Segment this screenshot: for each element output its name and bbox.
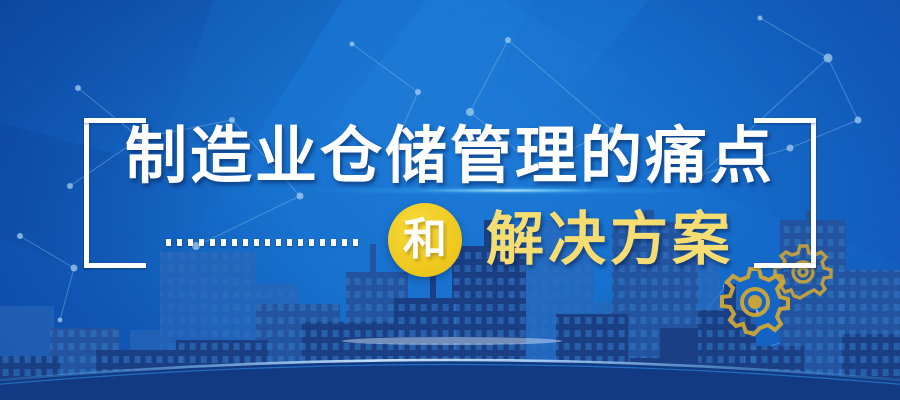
subtitle-row: 和 解决方案 bbox=[0, 200, 900, 280]
dotted-rule bbox=[166, 239, 362, 246]
page-title: 制造业仓储管理的痛点 bbox=[0, 122, 900, 192]
conjunction-badge: 和 bbox=[388, 203, 462, 277]
horizon-ground bbox=[0, 360, 900, 400]
promo-banner: 制造业仓储管理的痛点 和 解决方案 bbox=[0, 0, 900, 400]
subtitle-text: 解决方案 bbox=[486, 208, 734, 272]
